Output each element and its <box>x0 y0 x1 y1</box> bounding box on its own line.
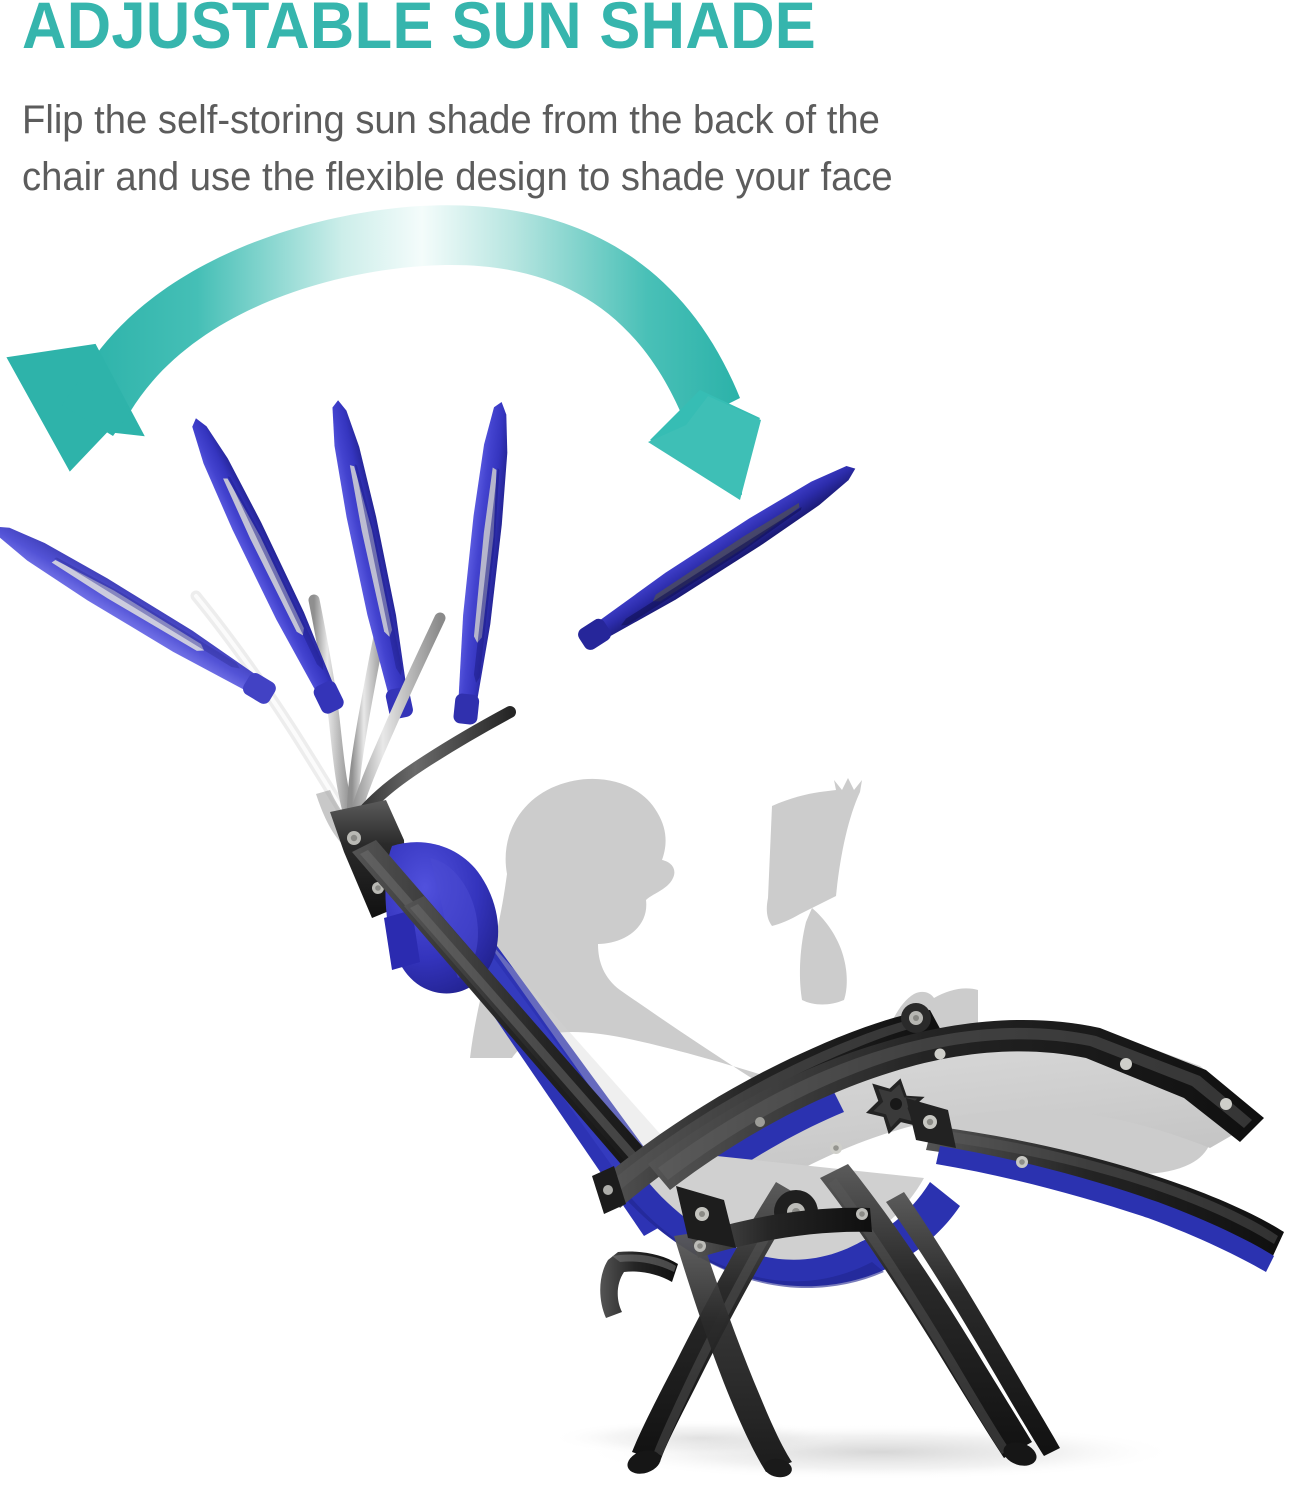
shade-position-2 <box>182 413 352 826</box>
floor-shadow-secondary <box>550 1420 850 1456</box>
leg-front-right-secondary <box>886 1192 1060 1456</box>
shade-position-1 <box>0 516 352 826</box>
book-silhouette <box>767 778 862 926</box>
page-title: ADJUSTABLE SUN SHADE <box>22 0 816 63</box>
header-text-block: ADJUSTABLE SUN SHADE Flip the self-stori… <box>0 0 1300 210</box>
page-subtitle-line-1: Flip the self-storing sun shade from the… <box>22 92 1216 149</box>
page-subtitle: Flip the self-storing sun shade from the… <box>22 92 1216 206</box>
product-feature-image: ADJUSTABLE SUN SHADE Flip the self-stori… <box>0 0 1300 1500</box>
motion-arc-arrow <box>8 205 761 500</box>
product-illustration <box>0 0 1300 1500</box>
page-subtitle-line-2: chair and use the flexible design to sha… <box>22 149 1216 206</box>
